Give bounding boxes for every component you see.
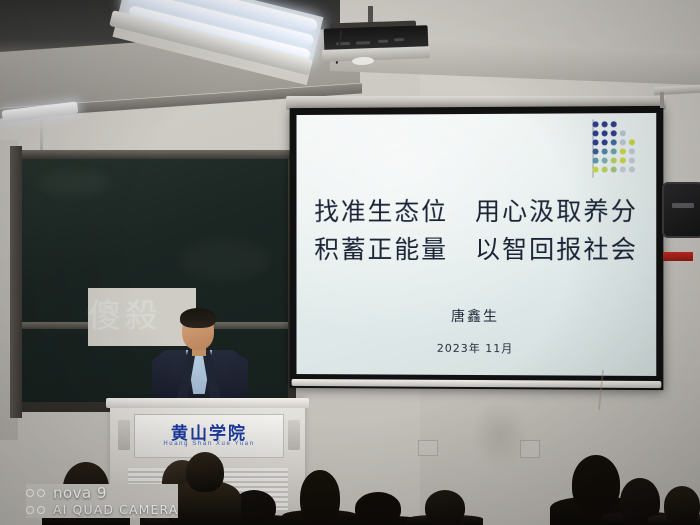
watermark-camera-row: AI QUAD CAMERA: [26, 501, 178, 518]
projector-vent: [394, 38, 404, 41]
watermark-brand-row: nova 9: [26, 484, 178, 501]
screen-weight-bar: [292, 379, 662, 388]
lectern-side-panel: [118, 420, 130, 450]
blackboard-side-post: [10, 146, 22, 418]
audience-head: [572, 455, 620, 513]
slide-heading-line-1: 找准生态位 用心汲取养分: [297, 192, 657, 229]
lectern-institution-plate: 黄山学院 Huang Shan Xue Yuan: [134, 414, 284, 458]
logo-dot: [611, 148, 617, 154]
logo-dot: [593, 158, 599, 164]
logo-dot: [620, 166, 626, 172]
logo-dot: [629, 130, 635, 136]
audience-head: [664, 486, 700, 525]
logo-dot: [602, 121, 608, 127]
institution-name-pinyin: Huang Shan Xue Yuan: [135, 441, 283, 447]
projector-vent: [356, 41, 370, 44]
logo-dot: [629, 166, 635, 172]
logo-dot: [593, 148, 599, 154]
logo-dot: [611, 139, 617, 145]
audience-head: [355, 492, 401, 525]
logo-dot: [620, 148, 626, 154]
chalk-smudge: [40, 170, 110, 196]
logo-dot: [629, 121, 635, 127]
logo-dot: [611, 157, 617, 163]
wall-outlet: [418, 440, 438, 456]
wall-hook: [660, 92, 664, 108]
logo-dot: [593, 167, 599, 173]
audience-head: [425, 490, 465, 525]
wall-box-label: [672, 203, 694, 208]
logo-dot: [611, 167, 617, 173]
wall-stain: [470, 400, 530, 470]
audience-head: [300, 470, 340, 525]
logo-dot: [593, 139, 599, 145]
logo-dot: [629, 139, 635, 145]
slide-heading-line-2: 积蓄正能量 以智回报社会: [297, 230, 657, 266]
watermark-camera-text: AI QUAD CAMERA: [53, 502, 178, 517]
projection-screen-surface: 找准生态位 用心汲取养分 积蓄正能量 以智回报社会 唐鑫生 2023年 11月: [297, 113, 657, 376]
red-wall-sign: [663, 252, 693, 261]
logo-dot: [611, 130, 617, 136]
logo-dot: [602, 139, 608, 145]
audience-head: [186, 452, 224, 492]
watermark-brand-text: nova 9: [53, 484, 107, 502]
logo-dot: [629, 157, 635, 163]
projector-vent: [378, 40, 388, 43]
logo-dot: [620, 139, 626, 145]
logo-dot: [593, 121, 599, 127]
camera-watermark: nova 9 AI QUAD CAMERA: [26, 484, 178, 518]
blackboard-top-rail: [18, 150, 296, 159]
logo-dot: [593, 130, 599, 136]
quad-circle-icon: [26, 489, 46, 497]
logo-dot: [629, 148, 635, 154]
wall-mounted-black-box: [662, 182, 700, 238]
quad-circle-icon: [26, 506, 46, 514]
logo-dot: [620, 157, 626, 163]
slide-author-name: 唐鑫生: [297, 306, 657, 327]
slide-date: 2023年 11月: [297, 339, 657, 357]
logo-dot: [602, 167, 608, 173]
logo-dot: [602, 148, 608, 154]
presenter-hair: [180, 308, 216, 328]
logo-dot: [602, 157, 608, 163]
lecture-hall-photo: 傻殺 找准生态位 用心汲取养分 积蓄正能量 以智回报社会 唐鑫生 2023年 1…: [0, 0, 700, 525]
chalk-smudge: [180, 240, 270, 280]
logo-dot: [602, 130, 608, 136]
projection-screen: 找准生态位 用心汲取养分 积蓄正能量 以智回报社会 唐鑫生 2023年 11月: [290, 106, 664, 390]
logo-dot: [611, 121, 617, 127]
logo-dot: [620, 121, 626, 127]
dot-matrix-logo: [593, 121, 636, 173]
lectern-side-panel: [288, 420, 300, 450]
lectern-top-surface: [106, 398, 309, 408]
logo-dot: [620, 130, 626, 136]
